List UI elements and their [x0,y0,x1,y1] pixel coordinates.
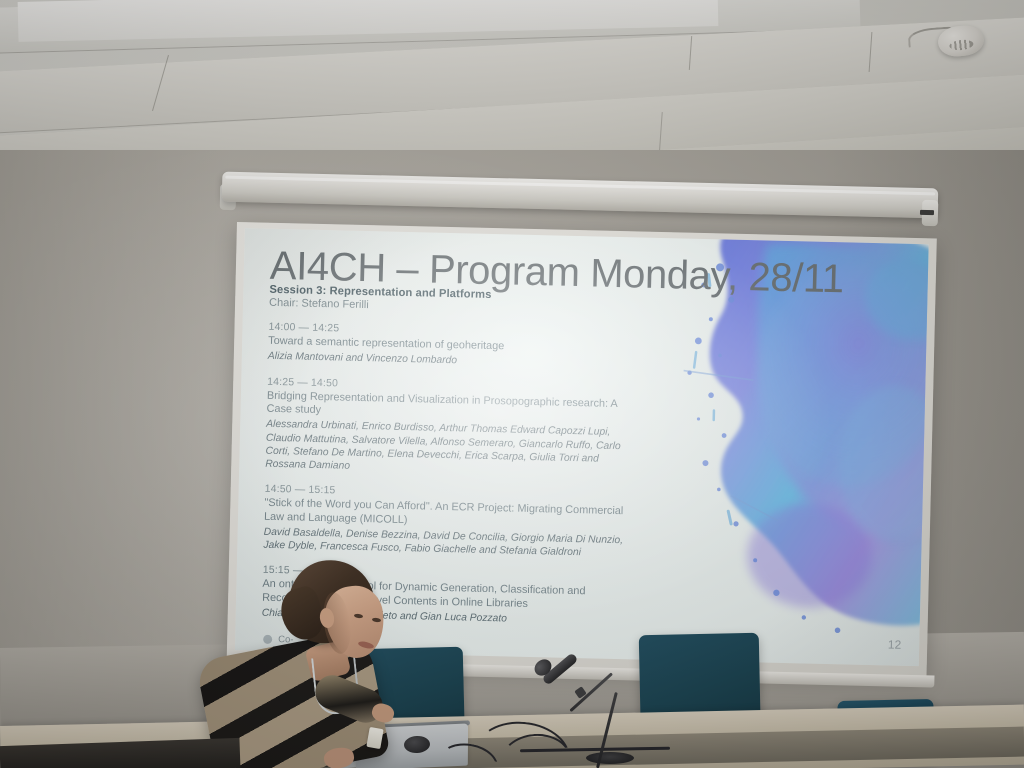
talk-item: 14:50 — 15:15 "Stick of the Word you Can… [263,484,633,561]
conference-room-photo: AI4CH – Program Monday, 28/11 Session 3:… [0,0,1024,768]
talk-authors: Alessandra Urbinati, Enrico Burdisso, Ar… [265,418,634,479]
presenter [196,552,396,768]
talk-item: 14:25 — 14:50 Bridging Representation an… [265,376,635,479]
slide-page-number: 12 [888,637,902,651]
microphone-base [586,752,634,764]
talk-item: 14:00 — 14:25 Toward a semantic represen… [268,322,637,372]
screen-control-button[interactable] [920,210,934,215]
